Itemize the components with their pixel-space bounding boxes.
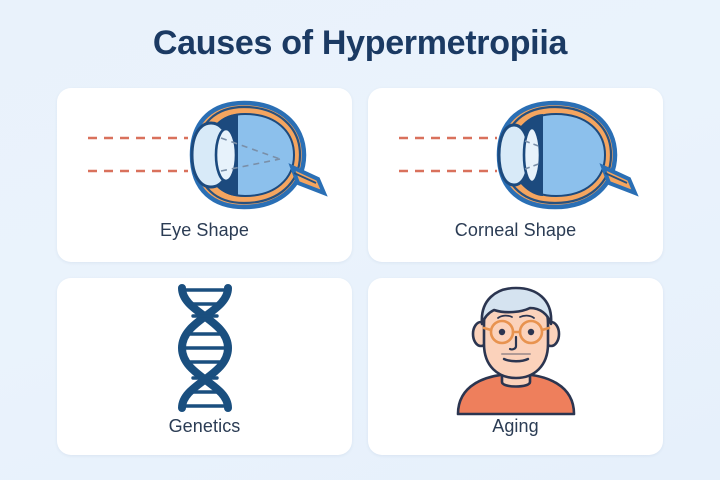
cause-card-genetics[interactable]: Genetics <box>57 278 352 455</box>
eyeball-group <box>499 103 635 207</box>
infographic-root: Causes of Hypermetropiia <box>0 0 720 480</box>
light-rays-group <box>88 138 188 171</box>
page-title: Causes of Hypermetropiia <box>0 24 720 63</box>
dna-helix-icon <box>57 278 352 414</box>
eye-diagram-elongated-icon <box>57 88 352 216</box>
light-rays-group <box>399 138 497 171</box>
eyeball-group <box>192 103 324 207</box>
cause-card-label: Eye Shape <box>57 220 352 241</box>
eye-diagram-flat-cornea-icon <box>368 88 663 216</box>
causes-card-grid: Eye Shape <box>57 88 663 455</box>
cause-card-label: Corneal Shape <box>368 220 663 241</box>
cause-card-label: Aging <box>368 416 663 437</box>
cause-card-corneal-shape[interactable]: Corneal Shape <box>368 88 663 262</box>
cause-card-label: Genetics <box>57 416 352 437</box>
cause-card-aging[interactable]: Aging <box>368 278 663 455</box>
elderly-person-icon <box>368 278 663 414</box>
cause-card-eye-shape[interactable]: Eye Shape <box>57 88 352 262</box>
